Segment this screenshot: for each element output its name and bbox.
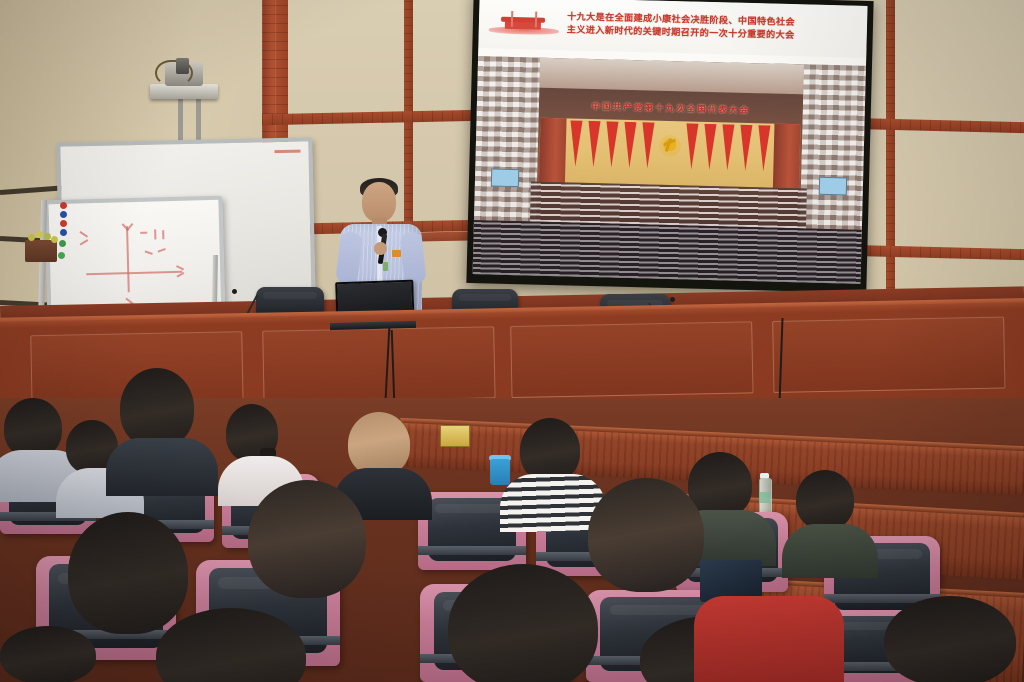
- audience-member: [884, 596, 1016, 682]
- desk-microphone-head: [232, 289, 237, 294]
- hall-side-monitor: [491, 168, 519, 187]
- red-flag: [569, 120, 582, 166]
- red-flag: [587, 121, 600, 167]
- projection-screen: 十九大是在全面建成小康社会决胜阶段、中国特色社会 主义进入新时代的关键时期召开的…: [466, 0, 873, 293]
- plant-leaf: [36, 231, 43, 238]
- sketch-mark: [162, 230, 164, 239]
- sketch-mark: [145, 250, 153, 254]
- congress-banner-text: 中国共产党第十九次全国代表大会: [541, 96, 801, 121]
- hall-audience-seating: [473, 220, 862, 284]
- presenter-head: [362, 182, 396, 222]
- lecture-hall-photo: 十九大是在全面建成小康社会决胜阶段、中国特色社会 主义进入新时代的关键时期召开的…: [0, 0, 1024, 682]
- plant-leaf: [44, 233, 51, 240]
- red-flag: [623, 122, 636, 168]
- audience-member: [520, 418, 580, 482]
- stage-desk-panel: [510, 321, 753, 398]
- slide-title-text: 十九大是在全面建成小康社会决胜阶段、中国特色社会 主义进入新时代的关键时期召开的…: [567, 11, 795, 44]
- presenter-badge: [392, 250, 401, 257]
- presenter-arm-right: [399, 231, 426, 285]
- projected-slide: 十九大是在全面建成小康社会决胜阶段、中国特色社会 主义进入新时代的关键时期召开的…: [473, 0, 868, 284]
- tiananmen-illustration-icon: [487, 7, 562, 39]
- hall-side-monitor: [819, 177, 847, 196]
- presenter-hand: [374, 242, 387, 255]
- audience-member: [588, 478, 704, 592]
- stage-desk-panel: [262, 326, 495, 402]
- sketch-arrow: [176, 265, 184, 270]
- red-flag: [641, 122, 654, 168]
- hall-delegate-seating: [530, 181, 807, 228]
- microphone-tip: [383, 262, 388, 271]
- red-flag: [703, 124, 716, 170]
- magnet-green: [59, 240, 66, 247]
- sketch-mark: [80, 239, 89, 245]
- red-flag: [739, 125, 752, 171]
- stage-desk-panel: [772, 317, 1005, 393]
- red-flag: [685, 123, 698, 169]
- audience-member: [4, 398, 62, 458]
- stage-curtain: [773, 124, 801, 197]
- red-flag: [721, 124, 734, 170]
- audience-member: [248, 480, 366, 598]
- plant-leaf: [51, 236, 58, 243]
- sketch-mark: [158, 248, 166, 253]
- projector-lens: [176, 58, 189, 74]
- audience-member: [156, 608, 306, 682]
- projector-body: [150, 84, 218, 99]
- audience-member-red-shirt: [694, 596, 844, 682]
- magnet-red: [60, 220, 67, 227]
- sketch-axis-vertical: [126, 226, 129, 292]
- audience-member: [796, 470, 854, 530]
- audience-member: [120, 368, 194, 448]
- plant-leaf: [28, 234, 35, 241]
- sketch-axis-horizontal: [86, 271, 182, 275]
- audience-shoulders: [782, 524, 878, 578]
- sketch-arrow: [126, 223, 133, 231]
- magnet-green: [58, 252, 65, 259]
- gold-nameplate: [440, 425, 470, 447]
- cpc-emblem-icon: [659, 135, 682, 158]
- stage-curtain: [539, 118, 567, 191]
- wall-planter: [25, 240, 57, 262]
- audience-member: [0, 626, 96, 682]
- red-flag: [605, 121, 618, 167]
- sketch-mark: [140, 232, 147, 234]
- audience-member: [448, 564, 598, 682]
- audience-shoulders: [106, 438, 218, 496]
- magnet-blue: [60, 229, 67, 236]
- sketch-mark: [79, 231, 88, 238]
- audience-member: [226, 404, 278, 462]
- sketch-mark: [154, 229, 156, 239]
- blue-water-cup: [490, 459, 510, 485]
- magnet-red: [60, 202, 67, 209]
- bottle-label: [759, 492, 770, 503]
- hall-side-wall: [799, 64, 866, 246]
- audience-member: [348, 412, 410, 476]
- sketch-arrow: [176, 272, 184, 277]
- great-hall-photo: 中国共产党第十九次全国代表大会: [473, 56, 866, 284]
- desk-microphone-head: [670, 297, 675, 302]
- red-flag: [757, 125, 770, 171]
- magnet-blue: [60, 211, 67, 218]
